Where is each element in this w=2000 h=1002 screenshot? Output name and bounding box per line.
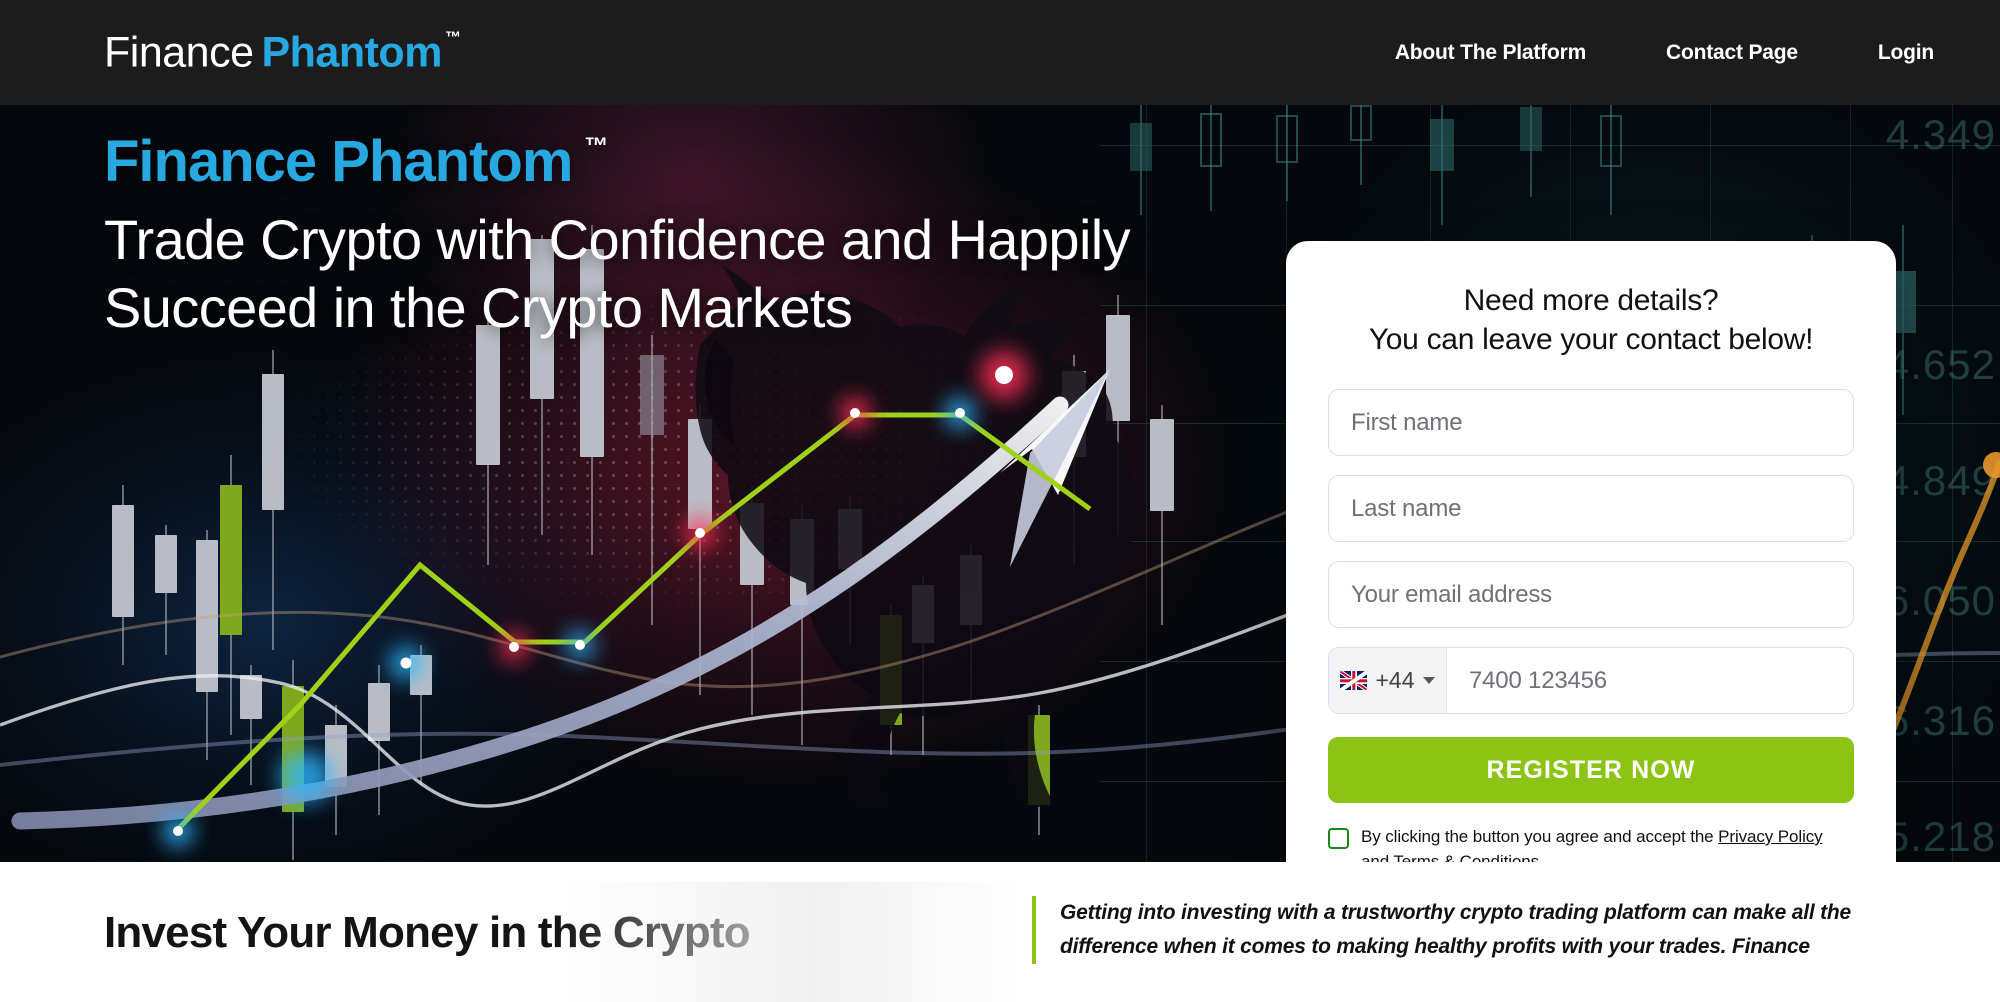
invest-section-heading: Invest Your Money in the Crypto — [104, 908, 750, 958]
main-navigation: About The Platform Contact Page Login — [1395, 31, 1934, 75]
chevron-down-icon — [1423, 677, 1435, 684]
nav-contact-page[interactable]: Contact Page — [1666, 31, 1798, 75]
hero-copy: Finance Phantom ™ Trade Crypto with Conf… — [104, 129, 1224, 342]
logo[interactable]: Finance Phantom ™ — [104, 28, 460, 77]
first-name-placeholder: First name — [1351, 409, 1462, 437]
lead-capture-form: Need more details? You can leave your co… — [1286, 241, 1896, 862]
invest-section: Invest Your Money in the Crypto Getting … — [0, 862, 2000, 996]
first-name-field[interactable]: First name — [1328, 389, 1854, 456]
nav-about-the-platform[interactable]: About The Platform — [1395, 31, 1586, 75]
phone-field[interactable]: +44 7400 123456 — [1328, 647, 1854, 714]
consent-text-part-1: By clicking the button you agree and acc… — [1361, 827, 1718, 846]
terms-conditions-link[interactable]: Terms & Conditions — [1393, 852, 1539, 862]
invest-section-quote-text: Getting into investing with a trustworth… — [1060, 896, 1912, 964]
hero-brand-trademark-symbol: ™ — [584, 133, 607, 161]
consent-text: By clicking the button you agree and acc… — [1361, 825, 1854, 862]
phone-placeholder: 7400 123456 — [1469, 667, 1607, 695]
last-name-field[interactable]: Last name — [1328, 475, 1854, 542]
email-field[interactable]: Your email address — [1328, 561, 1854, 628]
email-placeholder: Your email address — [1351, 581, 1552, 609]
uk-flag-icon — [1340, 671, 1367, 690]
last-name-placeholder: Last name — [1351, 495, 1461, 523]
invest-section-quote: Getting into investing with a trustworth… — [1032, 896, 1912, 964]
hero-section: 4.349 4.652 4.849 6.050 6.316 5.218 — [0, 105, 2000, 862]
form-title: Need more details? You can leave your co… — [1328, 281, 1854, 359]
form-title-line-1: Need more details? — [1328, 281, 1854, 320]
consent-row: By clicking the button you agree and acc… — [1328, 825, 1854, 862]
country-code-selector[interactable]: +44 — [1329, 648, 1447, 713]
register-now-button[interactable]: REGISTER NOW — [1328, 737, 1854, 803]
hero-brand-text: Finance Phantom — [104, 129, 572, 196]
logo-trademark-symbol: ™ — [445, 29, 461, 47]
logo-text-phantom: Phantom — [261, 28, 441, 77]
logo-text-finance: Finance — [104, 28, 253, 77]
consent-text-part-2: and — [1361, 852, 1393, 862]
phone-number-input[interactable]: 7400 123456 — [1447, 648, 1853, 713]
site-header: Finance Phantom ™ About The Platform Con… — [0, 0, 2000, 105]
hero-title: Trade Crypto with Confidence and Happily… — [104, 206, 1164, 343]
consent-checkbox[interactable] — [1328, 828, 1349, 849]
form-title-line-2: You can leave your contact below! — [1328, 320, 1854, 359]
dial-code-label: +44 — [1375, 667, 1414, 694]
nav-login[interactable]: Login — [1878, 31, 1934, 75]
privacy-policy-link[interactable]: Privacy Policy — [1718, 827, 1822, 846]
hero-brand: Finance Phantom ™ — [104, 129, 1224, 196]
